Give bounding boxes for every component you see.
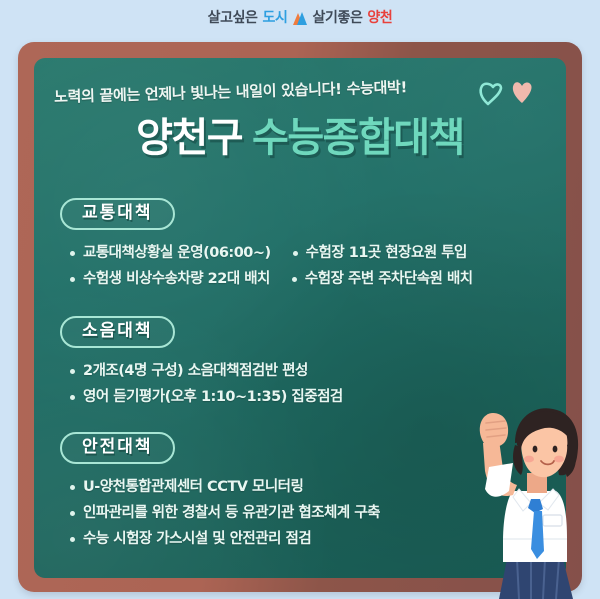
section-safety-rows: U-양천통합관제센터 CCTV 모니터링 인파관리를 위한 경찰서 등 유관기관… — [34, 474, 566, 552]
bullet-dot-icon — [292, 277, 297, 282]
list-item: 인파관리를 위한 경찰서 등 유관기관 협조체계 구축 — [70, 504, 380, 522]
bullet-dot-icon — [70, 277, 75, 282]
list-item-label: 수능 시험장 가스시설 및 안전관리 점검 — [83, 530, 311, 548]
list-item: 수험장 11곳 현장요원 투입 — [293, 244, 467, 262]
list-item: 수험생 비상수송차량 22대 배치 — [70, 270, 270, 288]
bullet-dot-icon — [70, 511, 75, 516]
list-row: 수험생 비상수송차량 22대 배치 수험장 주변 주차단속원 배치 — [34, 266, 566, 292]
heart-doodles — [474, 78, 544, 112]
section-noise: 소음대책 2개조(4명 구성) 소음대책점검반 편성 영어 듣기평가(오후 1:… — [34, 316, 566, 410]
list-item-label: 영어 듣기평가(오후 1:10~1:35) 집중점검 — [83, 388, 343, 406]
heart-outline-icon — [474, 78, 544, 112]
banner-text-3: 살기좋은 — [313, 11, 363, 25]
poster-root: 살고싶은 도시 살기좋은 양천 노력의 끝에는 언제나 빛나는 내일이 있습니다… — [0, 0, 600, 599]
list-item: 수능 시험장 가스시설 및 안전관리 점검 — [70, 530, 311, 548]
board-content: 노력의 끝에는 언제나 빛나는 내일이 있습니다! 수능대박! 양천구수능종합대… — [34, 58, 566, 578]
title-secondary: 수능종합대책 — [252, 115, 464, 161]
list-item-label: 인파관리를 위한 경찰서 등 유관기관 협조체계 구축 — [83, 504, 380, 522]
mountain-logo-icon — [293, 11, 308, 26]
section-label-safety: 안전대책 — [60, 432, 175, 464]
bullet-dot-icon — [70, 485, 75, 490]
section-label-noise: 소음대책 — [60, 316, 175, 348]
list-item-label: U-양천통합관제센터 CCTV 모니터링 — [83, 478, 303, 496]
list-row: 영어 듣기평가(오후 1:10~1:35) 집중점검 — [34, 384, 566, 410]
list-item: U-양천통합관제센터 CCTV 모니터링 — [70, 478, 303, 496]
list-item-label: 2개조(4명 구성) 소음대책점검반 편성 — [83, 362, 308, 380]
bullet-dot-icon — [70, 251, 75, 256]
list-row: U-양천통합관제센터 CCTV 모니터링 — [34, 474, 566, 500]
poster-title: 양천구수능종합대책 — [34, 118, 566, 158]
top-banner: 살고싶은 도시 살기좋은 양천 — [0, 0, 600, 36]
section-label-traffic: 교통대책 — [60, 198, 175, 230]
list-item: 수험장 주변 주차단속원 배치 — [292, 270, 473, 288]
list-row: 2개조(4명 구성) 소음대책점검반 편성 — [34, 358, 566, 384]
list-item: 2개조(4명 구성) 소음대책점검반 편성 — [70, 362, 308, 380]
section-traffic: 교통대책 교통대책상황실 운영(06:00~) 수험장 11곳 현장요원 투입 — [34, 198, 566, 292]
list-item: 영어 듣기평가(오후 1:10~1:35) 집중점검 — [70, 388, 343, 406]
heart-filled-icon — [513, 82, 532, 103]
list-item: 교통대책상황실 운영(06:00~) — [70, 244, 271, 262]
section-noise-rows: 2개조(4명 구성) 소음대책점검반 편성 영어 듣기평가(오후 1:10~1:… — [34, 358, 566, 410]
list-item-label: 수험장 11곳 현장요원 투입 — [306, 244, 467, 262]
banner-text-1: 살고싶은 — [208, 11, 258, 25]
list-item-label: 교통대책상황실 운영(06:00~) — [83, 244, 271, 262]
bullet-dot-icon — [70, 395, 75, 400]
list-row: 수능 시험장 가스시설 및 안전관리 점검 — [34, 526, 566, 552]
chalk-message: 노력의 끝에는 언제나 빛나는 내일이 있습니다! 수능대박! — [54, 74, 484, 107]
bullet-dot-icon — [293, 251, 298, 256]
list-item-label: 수험장 주변 주차단속원 배치 — [305, 270, 473, 288]
section-safety: 안전대책 U-양천통합관제센터 CCTV 모니터링 인파관리를 위한 경찰서 등… — [34, 432, 566, 552]
bullet-dot-icon — [70, 369, 75, 374]
list-item-label: 수험생 비상수송차량 22대 배치 — [83, 270, 270, 288]
title-primary: 양천구 — [136, 115, 242, 161]
section-traffic-rows: 교통대책상황실 운영(06:00~) 수험장 11곳 현장요원 투입 수험생 비… — [34, 240, 566, 292]
list-row: 교통대책상황실 운영(06:00~) 수험장 11곳 현장요원 투입 — [34, 240, 566, 266]
banner-text-4: 양천 — [367, 11, 392, 25]
bullet-dot-icon — [70, 537, 75, 542]
banner-text-2: 도시 — [263, 11, 288, 25]
list-row: 인파관리를 위한 경찰서 등 유관기관 협조체계 구축 — [34, 500, 566, 526]
